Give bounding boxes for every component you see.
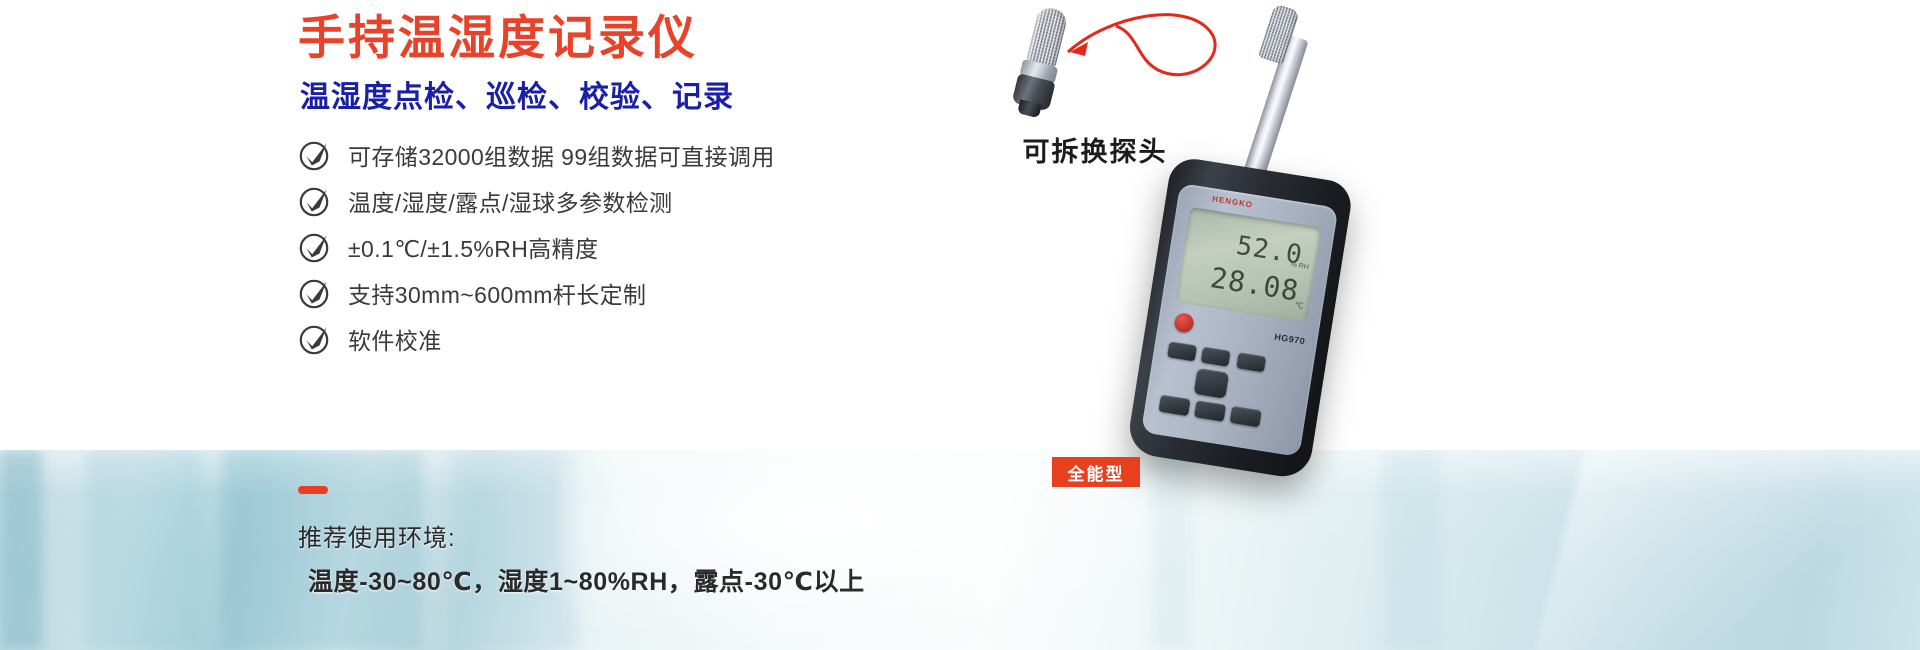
check-circle-icon	[298, 138, 332, 172]
power-button[interactable]	[1173, 312, 1195, 334]
lcd-screen: 52.0 % RH 28.08 ℃	[1176, 207, 1321, 322]
list-item-label: 温度/湿度/露点/湿球多参数检测	[348, 184, 673, 218]
product-image: 可拆换探头 HENGKO 52.0 % RH 28.08 ℃ HG970	[930, 0, 1920, 650]
check-circle-icon	[298, 276, 332, 310]
temperature-unit: ℃	[1294, 300, 1304, 310]
key-center[interactable]	[1194, 368, 1230, 399]
check-circle-icon	[298, 184, 332, 218]
list-item-label: ±0.1℃/±1.5%RH高精度	[348, 230, 598, 264]
model-label: HG970	[1274, 332, 1306, 347]
section-divider	[298, 486, 328, 494]
key-max-min[interactable]	[1167, 341, 1197, 361]
environment-title: 推荐使用环境:	[298, 518, 456, 553]
page-subtitle: 温湿度点检、巡检、校验、记录	[300, 80, 734, 116]
list-item-label: 可存储32000组数据 99组数据可直接调用	[348, 138, 775, 172]
key-save[interactable]	[1158, 395, 1190, 416]
list-item-label: 软件校准	[348, 322, 442, 356]
key-unit[interactable]	[1201, 347, 1231, 367]
check-circle-icon	[298, 230, 332, 264]
check-circle-icon	[298, 322, 332, 356]
brand-label: HENGKO	[1212, 194, 1254, 209]
product-banner: 手持温湿度记录仪 温湿度点检、巡检、校验、记录 可存储32000组数据 99组数…	[0, 0, 1920, 650]
key-hold[interactable]	[1230, 406, 1262, 427]
key-set[interactable]	[1236, 352, 1266, 372]
curved-arrow-icon	[990, 0, 1230, 110]
handheld-meter: HENGKO 52.0 % RH 28.08 ℃ HG970	[1126, 155, 1355, 480]
status-badge: 全能型	[1052, 457, 1140, 487]
environment-spec: 温度-30~80℃，湿度1~80%RH，露点-30℃以上	[308, 562, 865, 598]
list-item-label: 支持30mm~600mm杆长定制	[348, 276, 646, 310]
page-title: 手持温湿度记录仪	[298, 12, 698, 65]
keypad	[1152, 339, 1304, 448]
key-rec[interactable]	[1194, 400, 1226, 421]
